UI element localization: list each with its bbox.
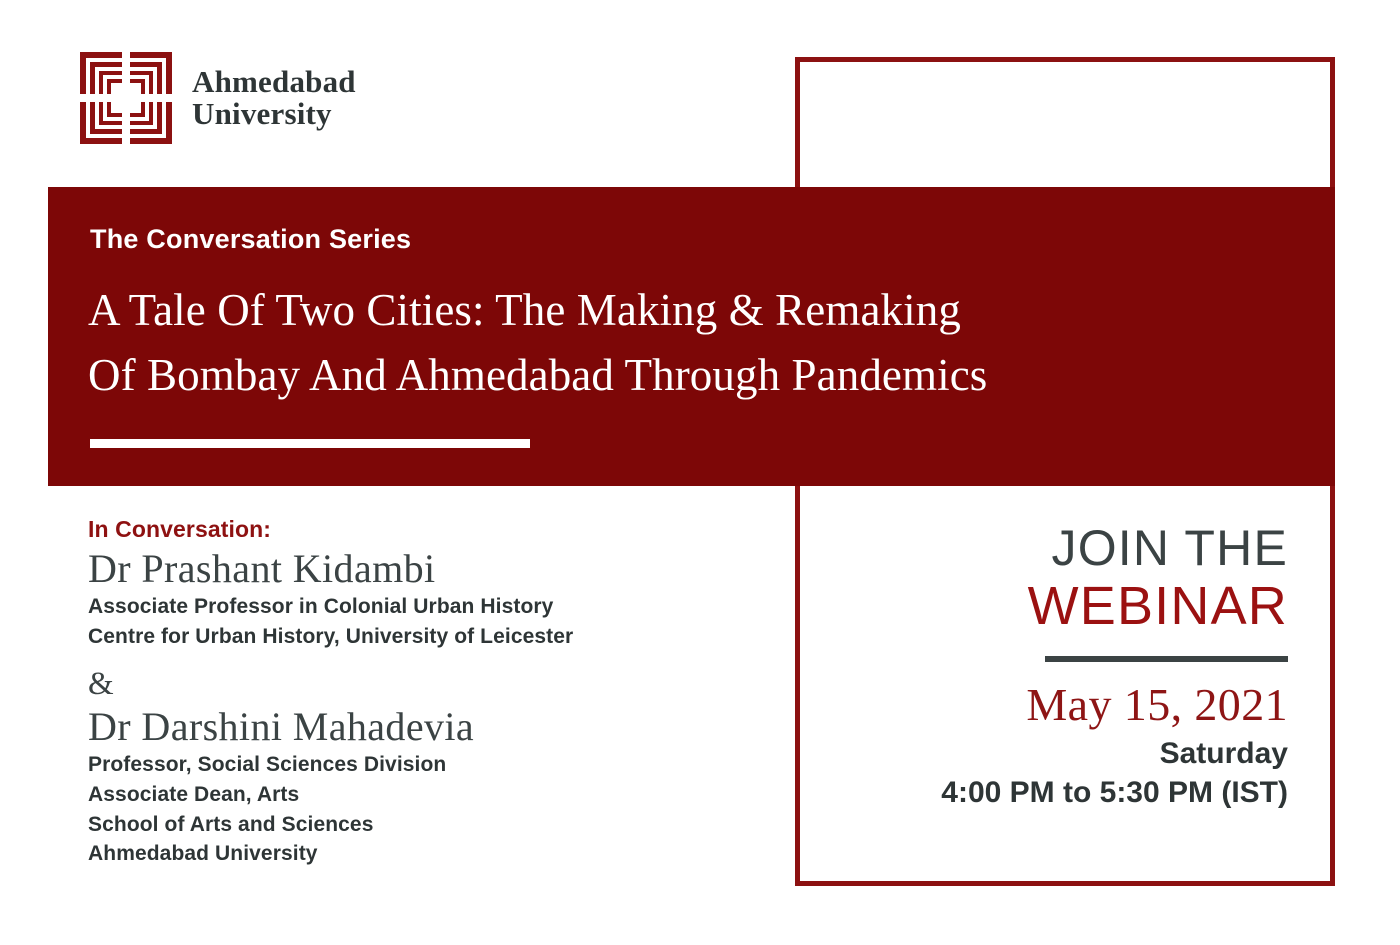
- event-time: 4:00 PM to 5:30 PM (IST): [820, 773, 1288, 812]
- join-the-label: JOIN THE: [820, 520, 1288, 576]
- university-logo: Ahmedabad University: [78, 50, 356, 146]
- ampersand-separator: &: [88, 668, 728, 701]
- university-wordmark: Ahmedabad University: [192, 66, 356, 130]
- event-day: Saturday: [820, 734, 1288, 773]
- speaker-name: Dr Prashant Kidambi: [88, 545, 728, 592]
- page-title: A Tale Of Two Cities: The Making & Remak…: [88, 278, 1323, 409]
- nested-squares-logo-icon: [78, 50, 174, 146]
- webinar-info-panel: JOIN THE WEBINAR May 15, 2021 Saturday 4…: [820, 520, 1310, 812]
- speaker-affiliation: Associate Professor in Colonial Urban Hi…: [88, 592, 728, 652]
- in-conversation-heading: In Conversation:: [88, 516, 728, 543]
- speakers-section: In Conversation: Dr Prashant Kidambi Ass…: [88, 516, 728, 869]
- panel-divider-rule: [1045, 656, 1288, 662]
- event-poster: Ahmedabad University The Conversation Se…: [0, 0, 1400, 945]
- speaker-entry-1: Dr Prashant Kidambi Associate Professor …: [88, 545, 728, 652]
- decorative-frame-top: [795, 57, 1335, 190]
- title-band: The Conversation Series A Tale Of Two Ci…: [48, 187, 1335, 486]
- series-label: The Conversation Series: [90, 224, 411, 255]
- speaker-affiliation: Professor, Social Sciences Division Asso…: [88, 750, 728, 869]
- webinar-label: WEBINAR: [820, 576, 1288, 636]
- speaker-name: Dr Darshini Mahadevia: [88, 703, 728, 750]
- speaker-entry-2: Dr Darshini Mahadevia Professor, Social …: [88, 703, 728, 869]
- title-underline-rule: [90, 439, 530, 448]
- event-date: May 15, 2021: [820, 678, 1288, 731]
